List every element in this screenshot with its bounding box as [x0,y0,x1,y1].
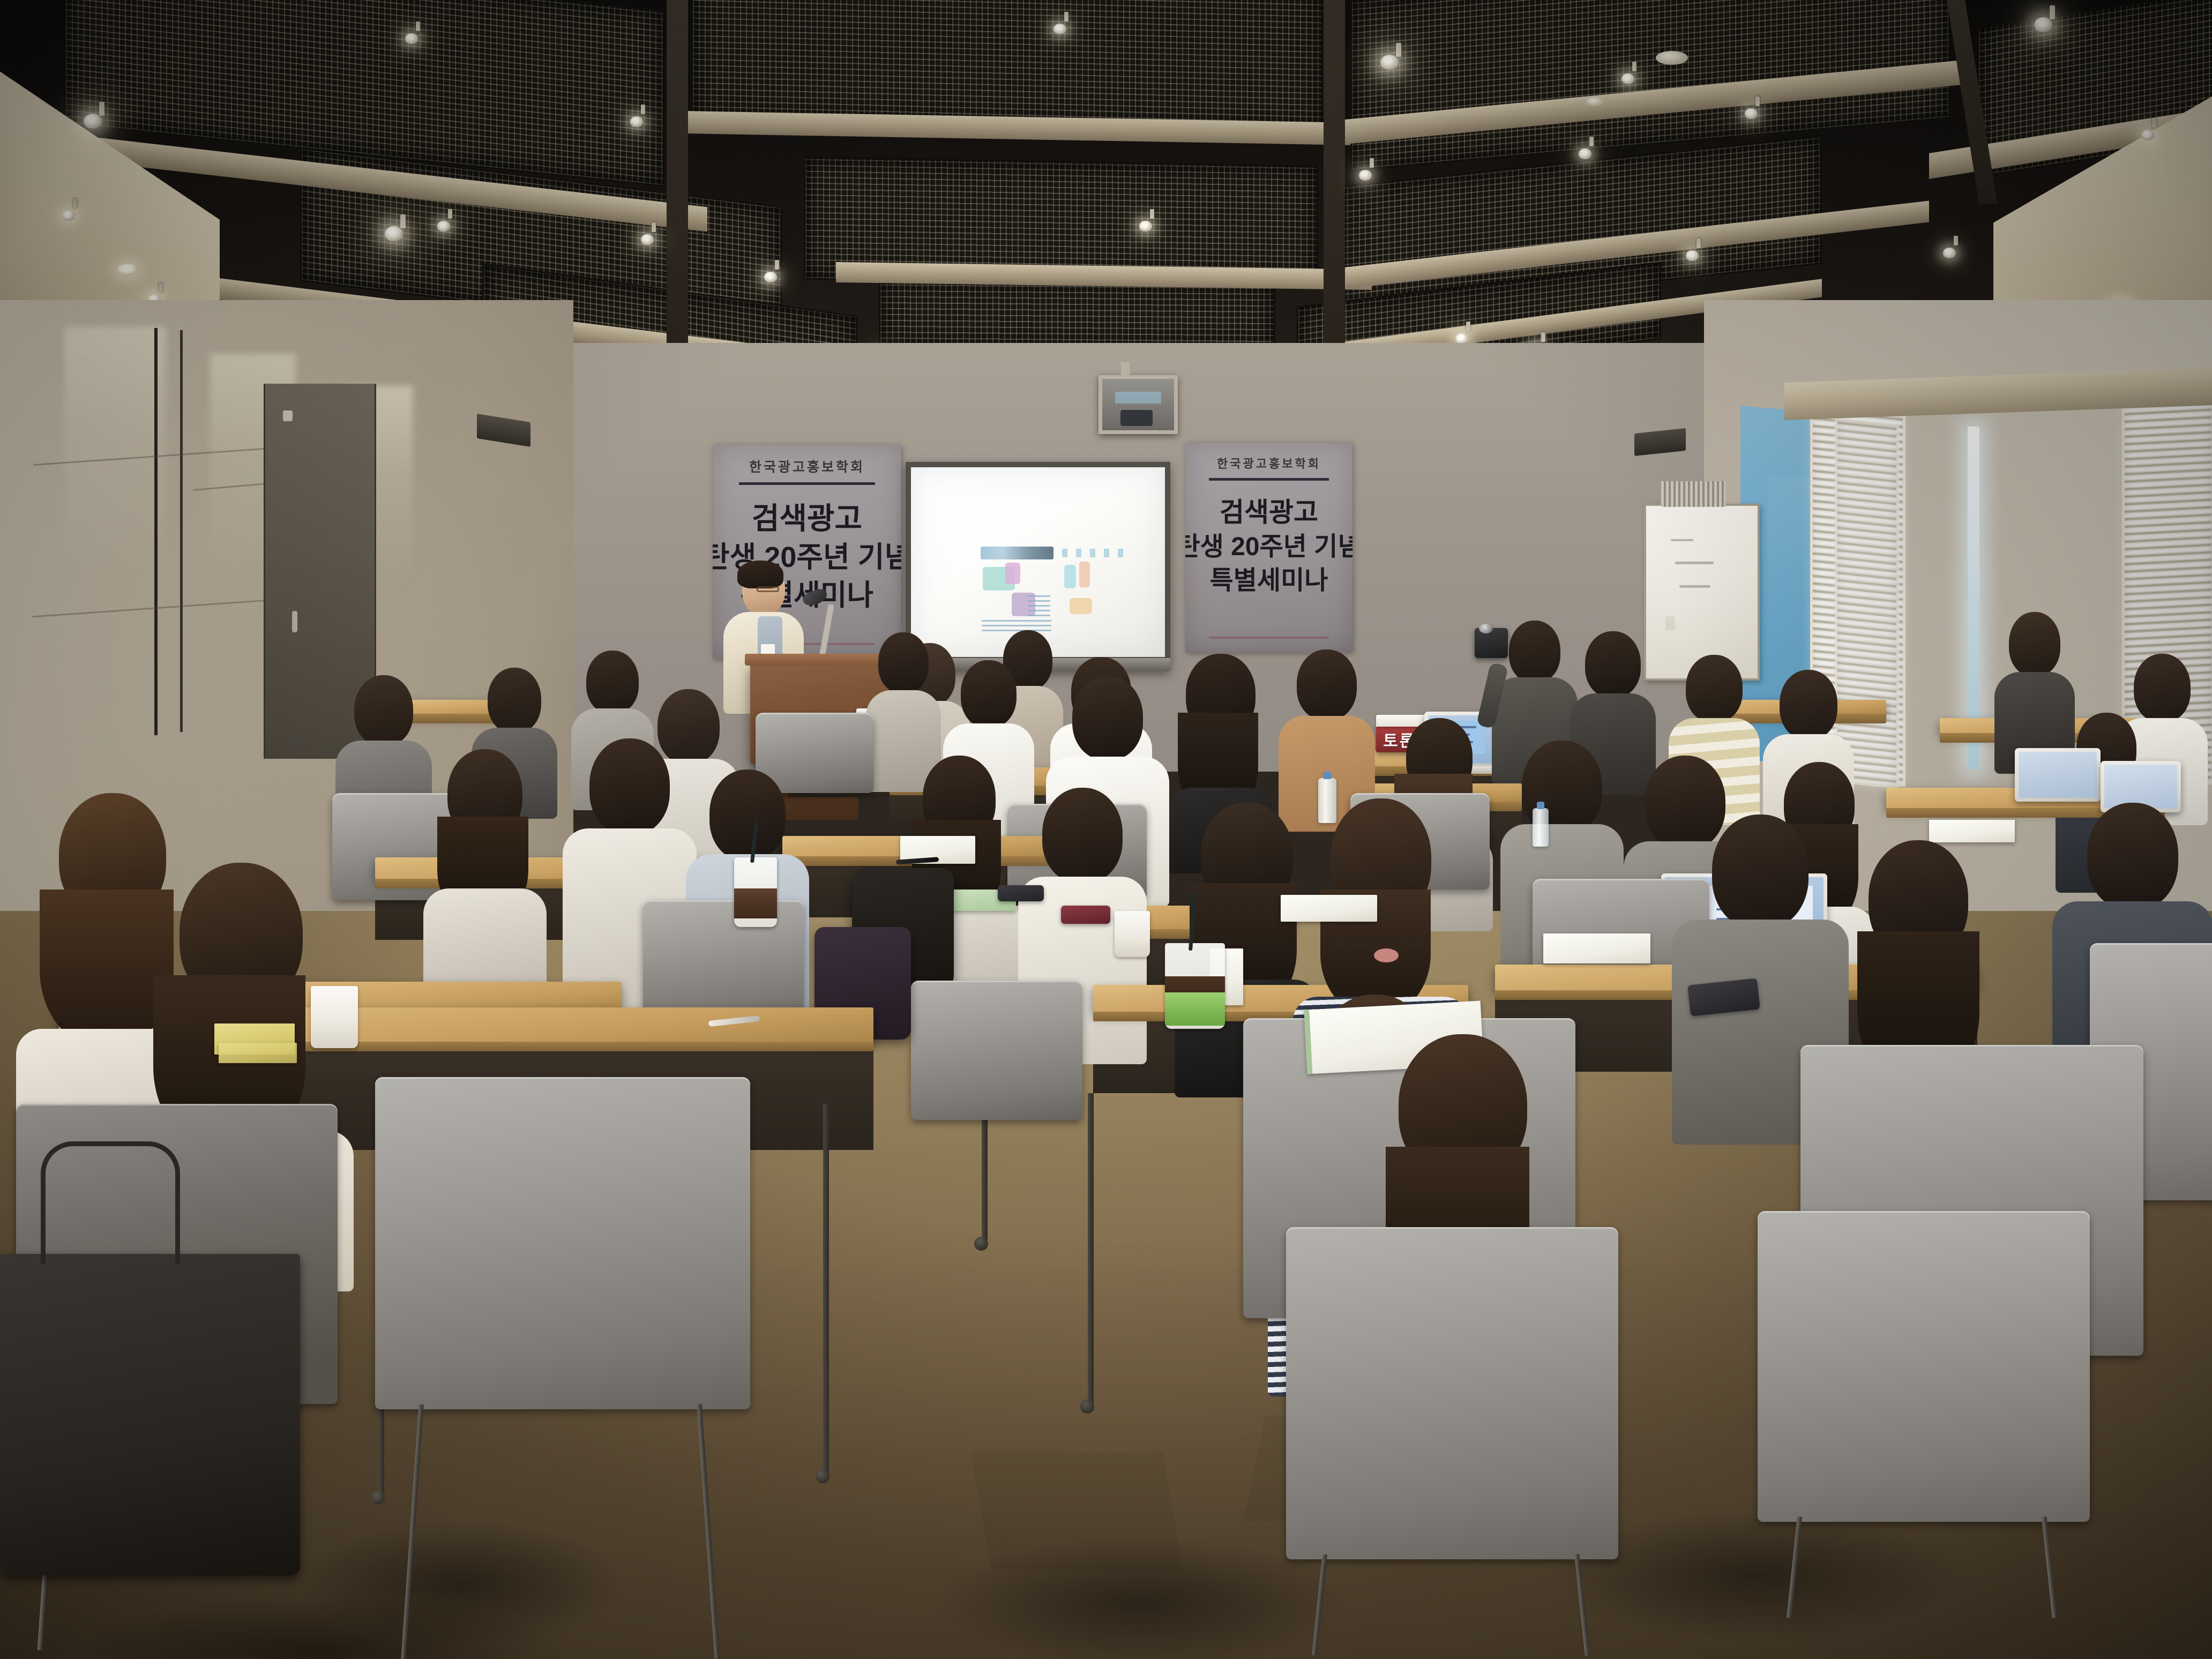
ceiling-diffuser-icon [1656,51,1688,65]
ceiling-beam-vertical [667,0,688,375]
attendee-head [1042,788,1123,883]
banner-left-line1: 검색광고 [752,499,862,539]
attendee-head [2134,654,2191,722]
handout[interactable] [1929,820,2015,842]
banner-right-organization: 한국광고홍보학회 [1217,454,1321,472]
table-leg [1088,1093,1094,1404]
chair-right-front[interactable] [1758,1211,2090,1522]
table-caster [816,1469,829,1483]
attendee-head [2009,612,2060,676]
chair-mid-left[interactable] [643,900,804,1023]
paper-cup[interactable] [1115,911,1150,957]
recessed-downlight [117,264,138,275]
attendee-head [878,632,929,693]
seminar-room-photo: 한국광고홍보학회 검색광고 탄생 20주년 기념 특별세미나 한국광고홍보학회 … [0,0,2212,1659]
camera-lens-icon [1479,624,1493,633]
hair-tie [1374,948,1399,962]
table-caster [371,1491,385,1505]
laptop-lid [2015,748,2101,802]
table-caster [1080,1400,1094,1414]
table-caster [974,1237,988,1251]
yellow-booklet-page[interactable] [219,1043,297,1063]
paper-cup[interactable] [311,986,358,1048]
banner-right-line2: 탄생 20주년 기념 [1185,530,1352,564]
iced-drink[interactable] [734,857,777,927]
banner-right: 한국광고홍보학회 검색광고 탄생 20주년 기념 특별세미나 [1185,443,1352,653]
tote-bag[interactable] [0,1254,300,1575]
slide-graphic [981,547,1053,559]
handout[interactable] [1543,933,1650,963]
attendee-head [354,675,413,746]
phone-device[interactable] [998,885,1044,901]
chair-back [1286,1227,1618,1559]
door-handle-icon[interactable] [292,611,297,632]
laptop-screen [2019,752,2097,798]
attendee-head [1072,676,1143,760]
presenter-hair [737,561,783,588]
chair-back [643,900,804,1023]
slide-graphic [982,619,1051,631]
smoke-detector-icon [1586,98,1604,106]
slide-graphic [1070,598,1092,614]
attendee [423,749,547,996]
chair-center-front[interactable] [1286,1227,1618,1559]
banner-right-bottom-rule [1209,637,1329,639]
door-sign [283,410,293,421]
slide-graphic [1079,562,1090,587]
banner-left-organization: 한국광고홍보학회 [749,457,865,476]
chair-mid[interactable] [911,981,1082,1120]
handout[interactable] [1281,895,1377,922]
attendee-head [961,660,1017,728]
banner-left-rule [739,482,875,485]
presenter-glasses [757,586,779,592]
camera[interactable] [1475,628,1508,658]
attendee-head [709,769,786,861]
ceiling-beam-vertical [1324,0,1345,375]
chair-back [375,1077,750,1409]
attendee-head [1686,655,1743,722]
attendee-head [1297,649,1357,720]
projector-mount-pole [1121,362,1130,378]
attendee-head [2087,803,2178,910]
attendee-head [1509,621,1560,683]
attendee-head [488,668,541,733]
attendee-head [1780,670,1837,739]
water-bottle[interactable] [1533,808,1549,847]
projection-screen-surface [911,467,1165,657]
iced-drink[interactable] [1165,943,1225,1029]
wall-light-wash [64,327,166,579]
slide-graphic [1064,565,1076,588]
table-leg [823,1104,829,1474]
chair-back [1758,1211,2090,1522]
projector-window [1115,392,1161,403]
attendee-head [1712,814,1809,929]
chair-back [911,981,1082,1120]
wall-panel-seam [180,330,183,732]
attendee-head [589,738,670,835]
wall-vent-grille [1661,481,1725,507]
whiteboard [1644,504,1760,681]
tote-bag-handle [41,1141,180,1265]
projector-body [1120,410,1153,426]
slide-graphic [1062,549,1126,557]
red-notebook[interactable] [1061,906,1110,924]
banner-right-line1: 검색광고 [1220,495,1318,530]
banner-right-line3: 특별세미나 [1210,564,1328,597]
slide-graphic [1028,595,1050,616]
slide-graphic [1005,563,1020,584]
chair-foreground-left[interactable] [375,1077,750,1409]
attendee-head [586,651,639,714]
wall-panel-seam [154,328,158,735]
attendee-head [1585,631,1641,698]
ceiling-projector [1098,375,1178,434]
laptop-far-right[interactable] [2015,748,2101,802]
laptop-screen [2104,765,2177,809]
banner-right-rule [1209,478,1329,481]
